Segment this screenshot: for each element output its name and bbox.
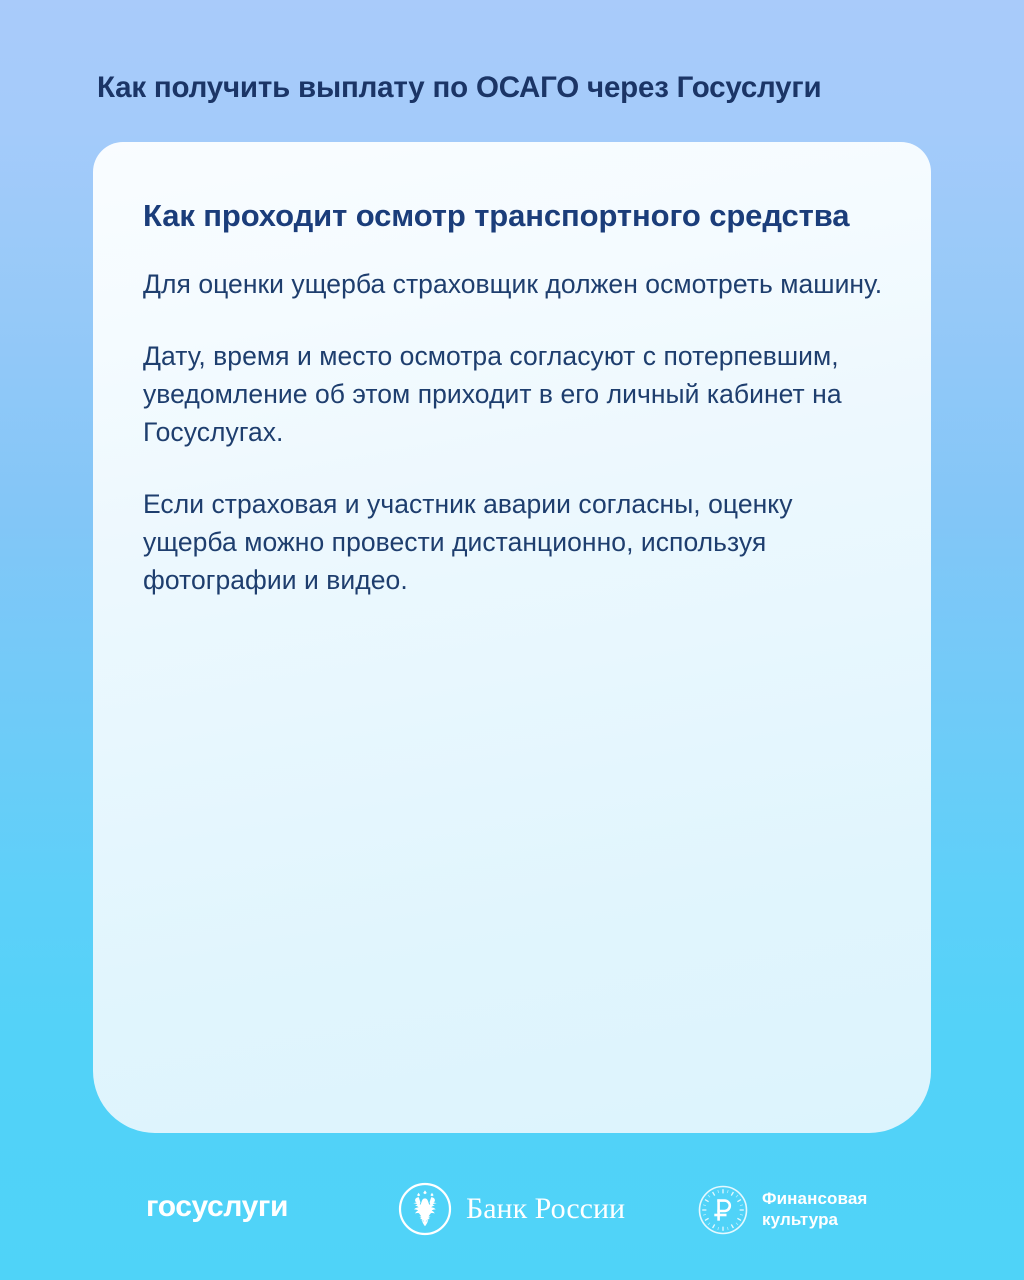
page-title: Как получить выплату по ОСАГО через Госу… (97, 70, 957, 105)
bank-of-russia-logo: Банк России (398, 1182, 625, 1236)
bank-of-russia-label: Банк России (466, 1194, 625, 1224)
double-headed-eagle-icon (398, 1182, 452, 1236)
gosuslugi-logo: госуслуги (146, 1192, 288, 1222)
card-paragraph-1: Для оценки ущерба страховщик должен осмо… (143, 266, 883, 304)
footer-logo-bar: госуслуги (0, 1178, 1024, 1262)
fin-culture-label: Финансовая культура (762, 1189, 867, 1230)
card-heading: Как проходит осмотр транспортного средст… (143, 196, 883, 236)
card-paragraph-2: Дату, время и место осмотра согласуют с … (143, 338, 883, 452)
content-card: Как проходит осмотр транспортного средст… (93, 142, 931, 1133)
card-paragraph-3: Если страховая и участник аварии согласн… (143, 486, 883, 600)
ruble-clock-icon (697, 1184, 749, 1236)
fin-culture-logo: Финансовая культура (697, 1184, 867, 1236)
poster-canvas: Как получить выплату по ОСАГО через Госу… (0, 0, 1024, 1280)
